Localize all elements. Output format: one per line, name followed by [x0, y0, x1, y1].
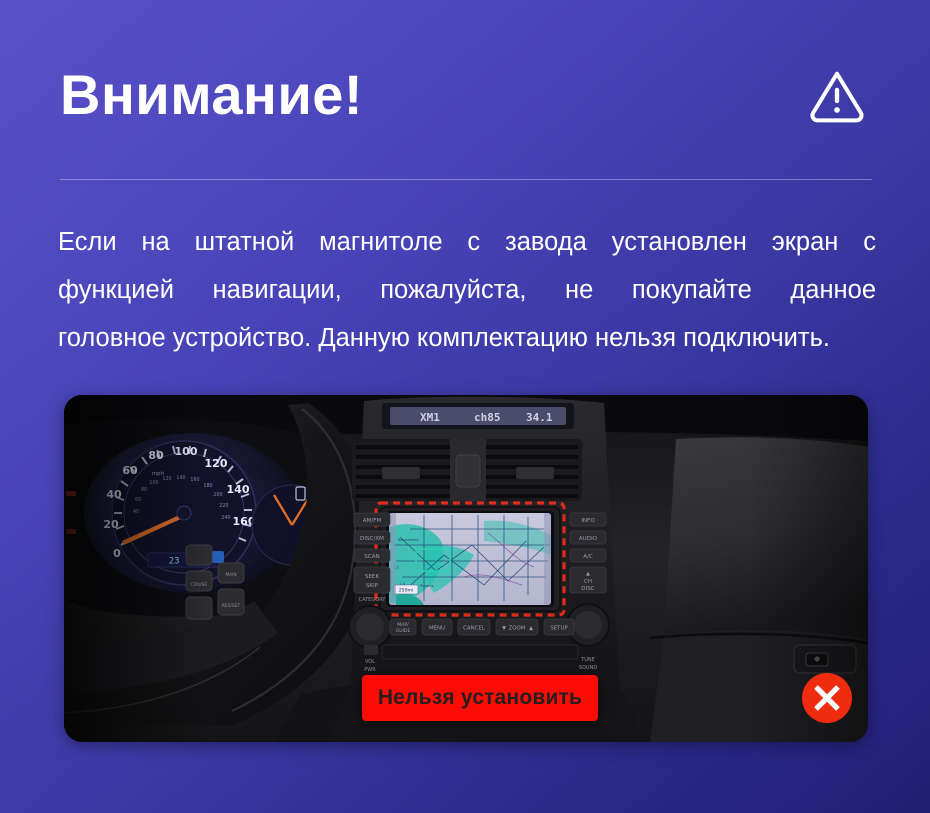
forbidden-cross-icon	[801, 672, 853, 724]
header: Внимание!	[60, 52, 872, 138]
warning-message-line-2: функцией навигации, пожалуйста, не покуп…	[58, 266, 876, 314]
header-divider	[60, 179, 872, 180]
warning-message-line-3: головное устройство. Данную комплектацию…	[58, 314, 876, 362]
warning-triangle-icon	[808, 66, 866, 124]
page-title: Внимание!	[60, 67, 363, 123]
cannot-install-ribbon: Нельзя установить	[362, 675, 598, 721]
warning-message-line-1: Если на штатной магнитоле с завода устан…	[58, 218, 876, 266]
warning-banner-page: Внимание! Если на штатной магнитоле с за…	[0, 0, 930, 813]
cannot-install-label: Нельзя установить	[378, 686, 582, 710]
warning-message: Если на штатной магнитоле с завода устан…	[58, 218, 876, 362]
